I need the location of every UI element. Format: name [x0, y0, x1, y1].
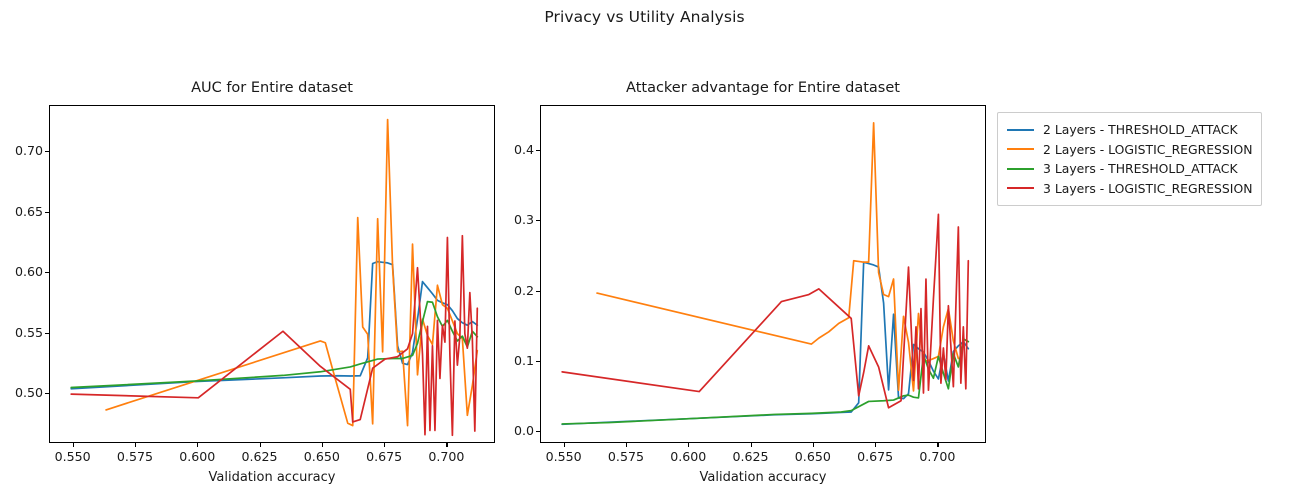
x-tick-mark [384, 443, 385, 447]
y-tick-mark [536, 150, 540, 151]
legend-item-label: 3 Layers - THRESHOLD_ATTACK [1043, 161, 1238, 176]
y-tick-mark [45, 333, 49, 334]
legend-item[interactable]: 3 Layers - LOGISTIC_REGRESSION [1007, 179, 1252, 199]
legend-color-swatch [1007, 187, 1034, 189]
legend[interactable]: 2 Layers - THRESHOLD_ATTACK2 Layers - LO… [997, 112, 1262, 206]
y-tick-label: 0.0 [492, 423, 534, 438]
series-line [562, 214, 968, 407]
y-tick-label: 0.70 [1, 143, 43, 158]
figure-canvas: Privacy vs Utility Analysis AUC for Enti… [0, 0, 1289, 495]
legend-color-swatch [1007, 168, 1034, 170]
legend-item[interactable]: 2 Layers - LOGISTIC_REGRESSION [1007, 140, 1252, 160]
x-tick-mark [260, 443, 261, 447]
y-tick-label: 0.50 [1, 385, 43, 400]
x-tick-mark [446, 443, 447, 447]
x-tick-label: 0.550 [43, 449, 103, 464]
x-tick-label: 0.575 [105, 449, 165, 464]
y-tick-mark [536, 431, 540, 432]
legend-item[interactable]: 2 Layers - THRESHOLD_ATTACK [1007, 120, 1252, 140]
series-line [71, 302, 477, 388]
legend-item-label: 3 Layers - LOGISTIC_REGRESSION [1043, 181, 1252, 196]
x-tick-label: 0.600 [167, 449, 227, 464]
figure-title: Privacy vs Utility Analysis [0, 8, 1289, 26]
x-tick-label: 0.700 [907, 449, 967, 464]
y-tick-label: 0.2 [492, 283, 534, 298]
y-tick-mark [536, 361, 540, 362]
y-tick-label: 0.65 [1, 204, 43, 219]
legend-item-label: 2 Layers - THRESHOLD_ATTACK [1043, 122, 1238, 137]
attacker-advantage-plot-lines [541, 106, 986, 443]
subplot-auc-title: AUC for Entire dataset [49, 80, 495, 96]
y-tick-mark [536, 220, 540, 221]
legend-color-swatch [1007, 148, 1034, 150]
y-tick-label: 0.4 [492, 142, 534, 157]
y-tick-mark [536, 291, 540, 292]
x-tick-mark [937, 443, 938, 447]
y-tick-mark [45, 212, 49, 213]
subplot-attacker-advantage-xlabel: Validation accuracy [540, 470, 986, 485]
x-tick-label: 0.675 [845, 449, 905, 464]
subplot-attacker-advantage-title: Attacker advantage for Entire dataset [540, 80, 986, 96]
x-tick-mark [197, 443, 198, 447]
x-tick-mark [751, 443, 752, 447]
x-tick-label: 0.675 [354, 449, 414, 464]
legend-item[interactable]: 3 Layers - THRESHOLD_ATTACK [1007, 159, 1252, 179]
x-tick-label: 0.625 [721, 449, 781, 464]
x-tick-mark [322, 443, 323, 447]
axes-auc[interactable] [49, 105, 495, 443]
x-tick-mark [135, 443, 136, 447]
y-tick-mark [45, 151, 49, 152]
y-tick-label: 0.55 [1, 325, 43, 340]
legend-item-label: 2 Layers - LOGISTIC_REGRESSION [1043, 142, 1252, 157]
x-tick-label: 0.625 [230, 449, 290, 464]
x-tick-mark [564, 443, 565, 447]
x-tick-label: 0.650 [292, 449, 352, 464]
auc-plot-lines [50, 106, 495, 443]
x-tick-label: 0.700 [416, 449, 476, 464]
x-tick-mark [73, 443, 74, 447]
legend-color-swatch [1007, 129, 1034, 131]
y-tick-mark [45, 272, 49, 273]
x-tick-label: 0.550 [534, 449, 594, 464]
y-tick-label: 0.1 [492, 353, 534, 368]
x-tick-mark [688, 443, 689, 447]
y-tick-label: 0.3 [492, 212, 534, 227]
x-tick-label: 0.650 [783, 449, 843, 464]
x-tick-mark [875, 443, 876, 447]
subplot-auc-xlabel: Validation accuracy [49, 470, 495, 485]
series-line [106, 120, 477, 426]
x-tick-mark [813, 443, 814, 447]
x-tick-label: 0.575 [596, 449, 656, 464]
axes-attacker-advantage[interactable] [540, 105, 986, 443]
x-tick-label: 0.600 [658, 449, 718, 464]
x-tick-mark [626, 443, 627, 447]
y-tick-label: 0.60 [1, 264, 43, 279]
y-tick-mark [45, 393, 49, 394]
